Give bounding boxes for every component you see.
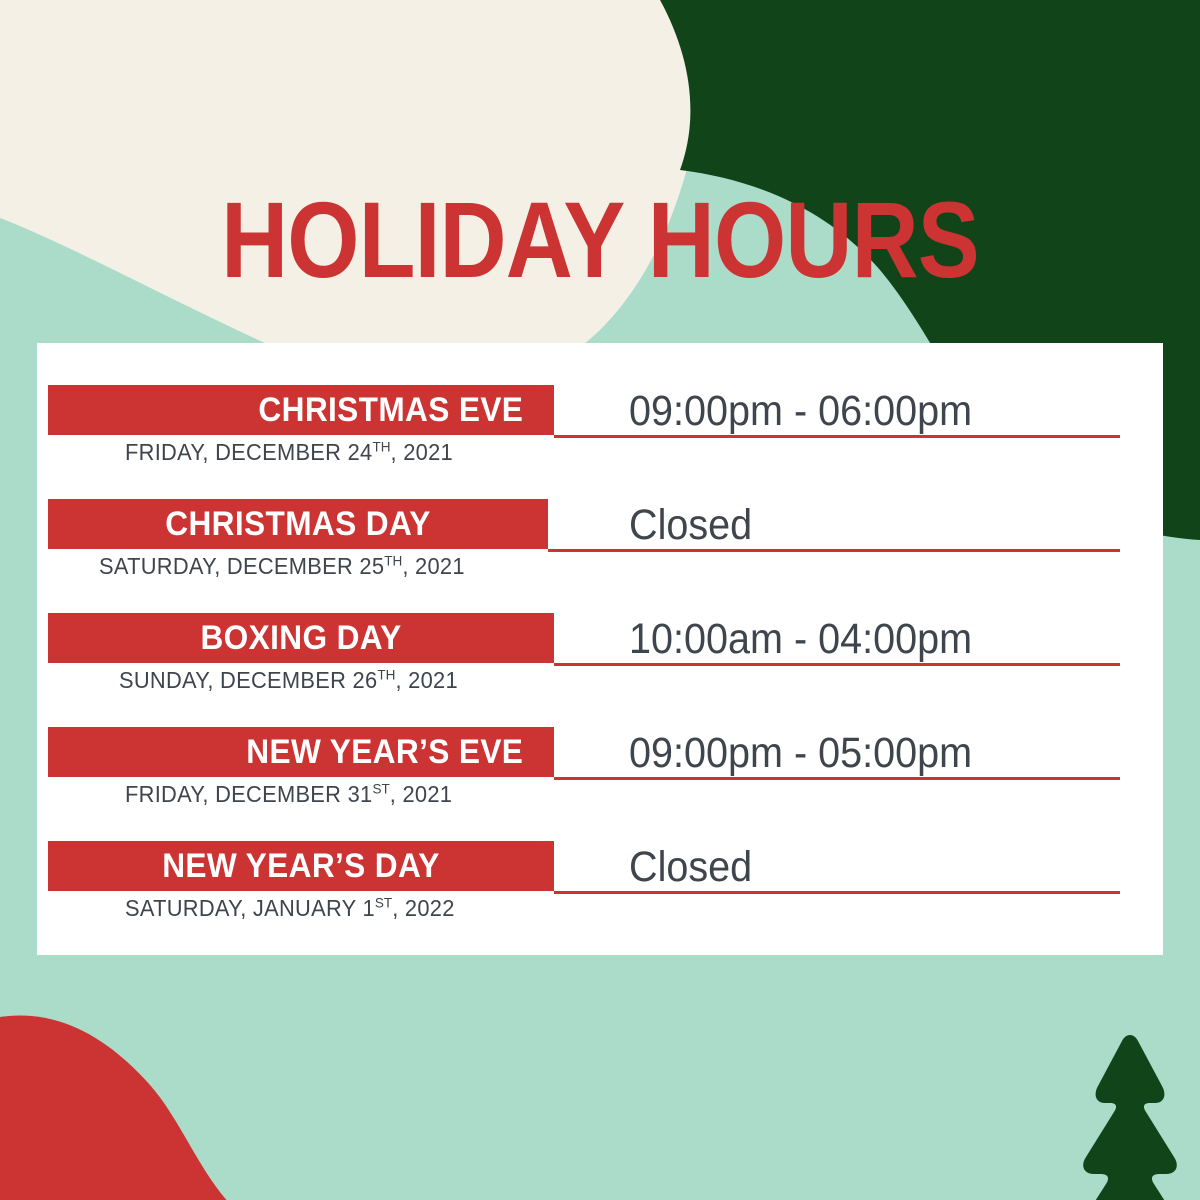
schedule-row: NEW YEAR’S EVE FRIDAY, DECEMBER 31ST, 20…	[37, 685, 1163, 799]
holiday-hours-poster: HOLIDAY HOURS CHRISTMAS EVE FRIDAY, DECE…	[0, 0, 1200, 1200]
row-underline	[554, 663, 1120, 666]
hours-cell: Closed	[629, 841, 763, 893]
holiday-name: CHRISTMAS EVE	[66, 391, 537, 430]
holiday-date-ordinal: TH	[384, 553, 402, 569]
schedule-row: CHRISTMAS DAY SATURDAY, DECEMBER 25TH, 2…	[37, 457, 1163, 571]
row-underline	[554, 891, 1120, 894]
row-underline	[554, 435, 1120, 438]
hours-value: 09:00pm - 06:00pm	[629, 385, 972, 437]
holiday-name-bar: NEW YEAR’S EVE	[48, 727, 554, 777]
holiday-date-prefix: SATURDAY, JANUARY 1	[125, 895, 375, 921]
holiday-name-bar: CHRISTMAS EVE	[48, 385, 554, 435]
schedule-rows: CHRISTMAS EVE FRIDAY, DECEMBER 24TH, 202…	[37, 343, 1163, 919]
hours-cell: 09:00pm - 05:00pm	[629, 727, 1002, 779]
hours-cell: 09:00pm - 06:00pm	[629, 385, 1002, 437]
holiday-date-suffix: , 2022	[392, 895, 454, 921]
schedule-row: CHRISTMAS EVE FRIDAY, DECEMBER 24TH, 202…	[37, 343, 1163, 457]
row-underline	[548, 549, 1120, 552]
hours-value: 10:00am - 04:00pm	[629, 613, 972, 665]
holiday-date: SATURDAY, JANUARY 1ST, 2022	[125, 895, 455, 922]
schedule-row: NEW YEAR’S DAY SATURDAY, JANUARY 1ST, 20…	[37, 799, 1163, 919]
holiday-date-ordinal: ST	[372, 781, 389, 797]
hours-value: Closed	[629, 841, 752, 893]
holiday-date-ordinal: TH	[372, 439, 390, 455]
hours-cell: 10:00am - 04:00pm	[629, 613, 1002, 665]
holiday-name: CHRISTMAS DAY	[66, 505, 531, 544]
hours-value: Closed	[629, 499, 752, 551]
hours-value: 09:00pm - 05:00pm	[629, 727, 972, 779]
holiday-date-ordinal: TH	[377, 667, 395, 683]
schedule-row: BOXING DAY SUNDAY, DECEMBER 26TH, 2021 1…	[37, 571, 1163, 685]
schedule-card: CHRISTMAS EVE FRIDAY, DECEMBER 24TH, 202…	[37, 343, 1163, 955]
holiday-name-bar: NEW YEAR’S DAY	[48, 841, 554, 891]
holiday-name: NEW YEAR’S DAY	[66, 847, 537, 886]
page-title: HOLIDAY HOURS	[84, 186, 1116, 294]
holiday-name-bar: BOXING DAY	[48, 613, 554, 663]
hours-cell: Closed	[629, 499, 763, 551]
holiday-name: BOXING DAY	[66, 619, 537, 658]
row-underline	[554, 777, 1120, 780]
holiday-date-ordinal: ST	[375, 895, 392, 911]
holiday-name-bar: CHRISTMAS DAY	[48, 499, 548, 549]
holiday-name: NEW YEAR’S EVE	[66, 733, 537, 772]
